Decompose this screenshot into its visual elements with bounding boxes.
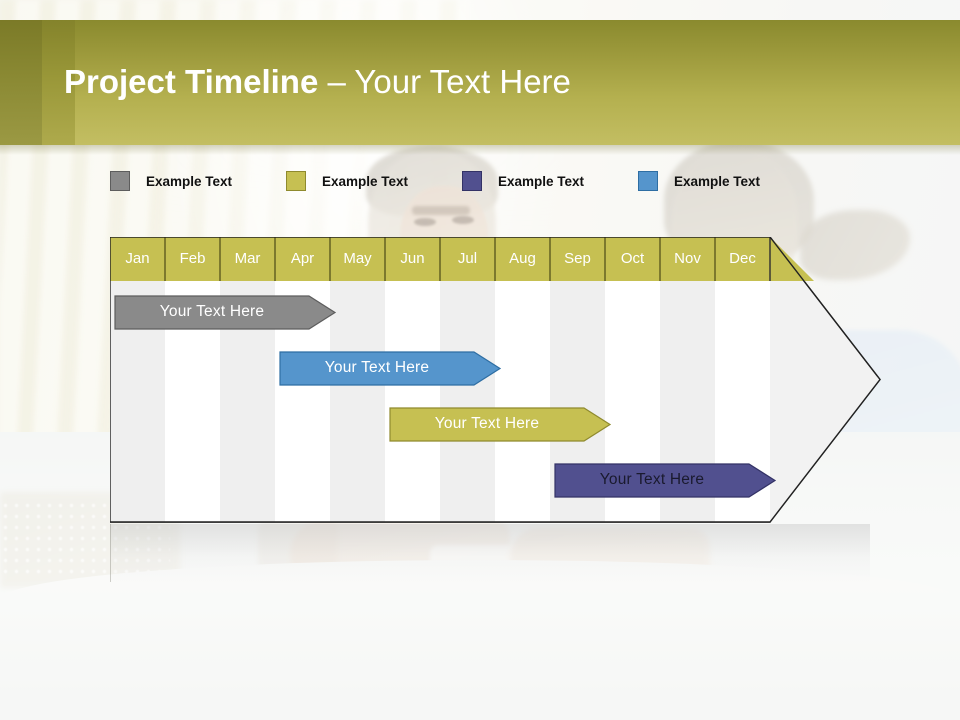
month-header-sep[interactable]: Sep bbox=[550, 237, 605, 281]
legend-label-0: Example Text bbox=[146, 174, 232, 189]
legend-swatch-icon-1 bbox=[286, 171, 306, 191]
title-banner-shadow bbox=[0, 145, 960, 155]
legend-swatch-icon-3 bbox=[638, 171, 658, 191]
timeline-column-Jul bbox=[440, 281, 495, 522]
timeline-column-May bbox=[330, 281, 385, 522]
timeline-chart: JanFebMarAprMayJunJulAugSepOctNovDec You… bbox=[110, 237, 885, 527]
month-header-apr[interactable]: Apr bbox=[275, 237, 330, 281]
legend-label-3: Example Text bbox=[674, 174, 760, 189]
month-header-may[interactable]: May bbox=[330, 237, 385, 281]
month-header-mar[interactable]: Mar bbox=[220, 237, 275, 281]
month-header-jun[interactable]: Jun bbox=[385, 237, 440, 281]
timeline-bar-label-2: Your Text Here bbox=[435, 415, 539, 433]
slide-canvas: Project Timeline – Your Text Here Exampl… bbox=[0, 0, 960, 720]
timeline-bar-label-1: Your Text Here bbox=[325, 359, 429, 377]
chart-reflection-edge bbox=[110, 524, 111, 582]
legend-label-2: Example Text bbox=[498, 174, 584, 189]
legend-label-1: Example Text bbox=[322, 174, 408, 189]
chart-reflection bbox=[110, 524, 870, 584]
month-header-oct[interactable]: Oct bbox=[605, 237, 660, 281]
page-title: Project Timeline – Your Text Here bbox=[64, 60, 894, 108]
page-title-strong: Project Timeline bbox=[64, 63, 318, 100]
month-header-aug[interactable]: Aug bbox=[495, 237, 550, 281]
month-header-jul[interactable]: Jul bbox=[440, 237, 495, 281]
legend-item-3[interactable]: Example Text bbox=[638, 170, 760, 192]
timeline-bar-label-3: Your Text Here bbox=[600, 471, 704, 489]
month-header-jan[interactable]: Jan bbox=[110, 237, 165, 281]
legend-swatch-icon-2 bbox=[462, 171, 482, 191]
month-header-tail bbox=[770, 237, 814, 281]
legend-item-2[interactable]: Example Text bbox=[462, 170, 584, 192]
legend-item-0[interactable]: Example Text bbox=[110, 170, 232, 192]
legend-item-1[interactable]: Example Text bbox=[286, 170, 408, 192]
timeline-column-Aug bbox=[495, 281, 550, 522]
timeline-bar-label-0: Your Text Here bbox=[160, 303, 264, 321]
month-header-nov[interactable]: Nov bbox=[660, 237, 715, 281]
month-header-feb[interactable]: Feb bbox=[165, 237, 220, 281]
month-header-dec[interactable]: Dec bbox=[715, 237, 770, 281]
legend-swatch-icon-0 bbox=[110, 171, 130, 191]
timeline-column-Jun bbox=[385, 281, 440, 522]
title-banner-accent-left bbox=[0, 20, 42, 145]
page-title-light: – Your Text Here bbox=[318, 63, 571, 100]
